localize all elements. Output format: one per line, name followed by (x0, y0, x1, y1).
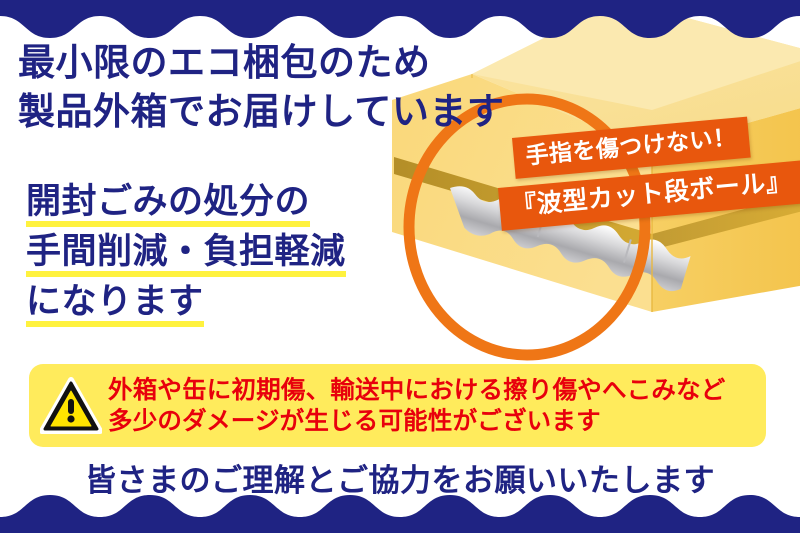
headline: 最小限のエコ梱包のため 製品外箱でお届けしています (18, 38, 504, 136)
subheadline: 開封ごみの処分の 手間削減・負担軽減 になります (26, 185, 346, 335)
marker-underline-3 (26, 321, 204, 327)
eco-packaging-banner: 最小限のエコ梱包のため 製品外箱でお届けしています 開封ごみの処分の 手間削減・… (0, 0, 800, 533)
subheadline-text-3: になります (26, 282, 204, 321)
closing-message: 皆さまのご理解とご協力をお願いいたします (0, 455, 800, 500)
subheadline-line-2: 手間削減・負担軽減 (26, 235, 346, 268)
marker-underline-2 (26, 271, 346, 277)
caution-line-1: 外箱や缶に初期傷、輸送中における擦り傷やへこみなど (108, 375, 766, 406)
orange-callout: 手指を傷つけない！ 『波型カット段ボール』 (498, 138, 798, 250)
caution-line-2: 多少のダメージが生じる可能性がございます (108, 406, 766, 437)
headline-line-2: 製品外箱でお届けしています (18, 87, 504, 136)
headline-line-1: 最小限のエコ梱包のため (18, 38, 504, 87)
subheadline-line-3: になります (26, 285, 204, 318)
subheadline-text-2: 手間削減・負担軽減 (26, 232, 346, 271)
caution-box: 外箱や缶に初期傷、輸送中における擦り傷やへこみなど 多少のダメージが生じる可能性… (29, 364, 766, 447)
marker-underline-1 (26, 221, 310, 227)
caution-text: 外箱や缶に初期傷、輸送中における擦り傷やへこみなど 多少のダメージが生じる可能性… (108, 375, 766, 437)
warning-triangle-icon (40, 377, 102, 435)
subheadline-text-1: 開封ごみの処分の (26, 182, 310, 221)
subheadline-line-1: 開封ごみの処分の (26, 185, 310, 218)
